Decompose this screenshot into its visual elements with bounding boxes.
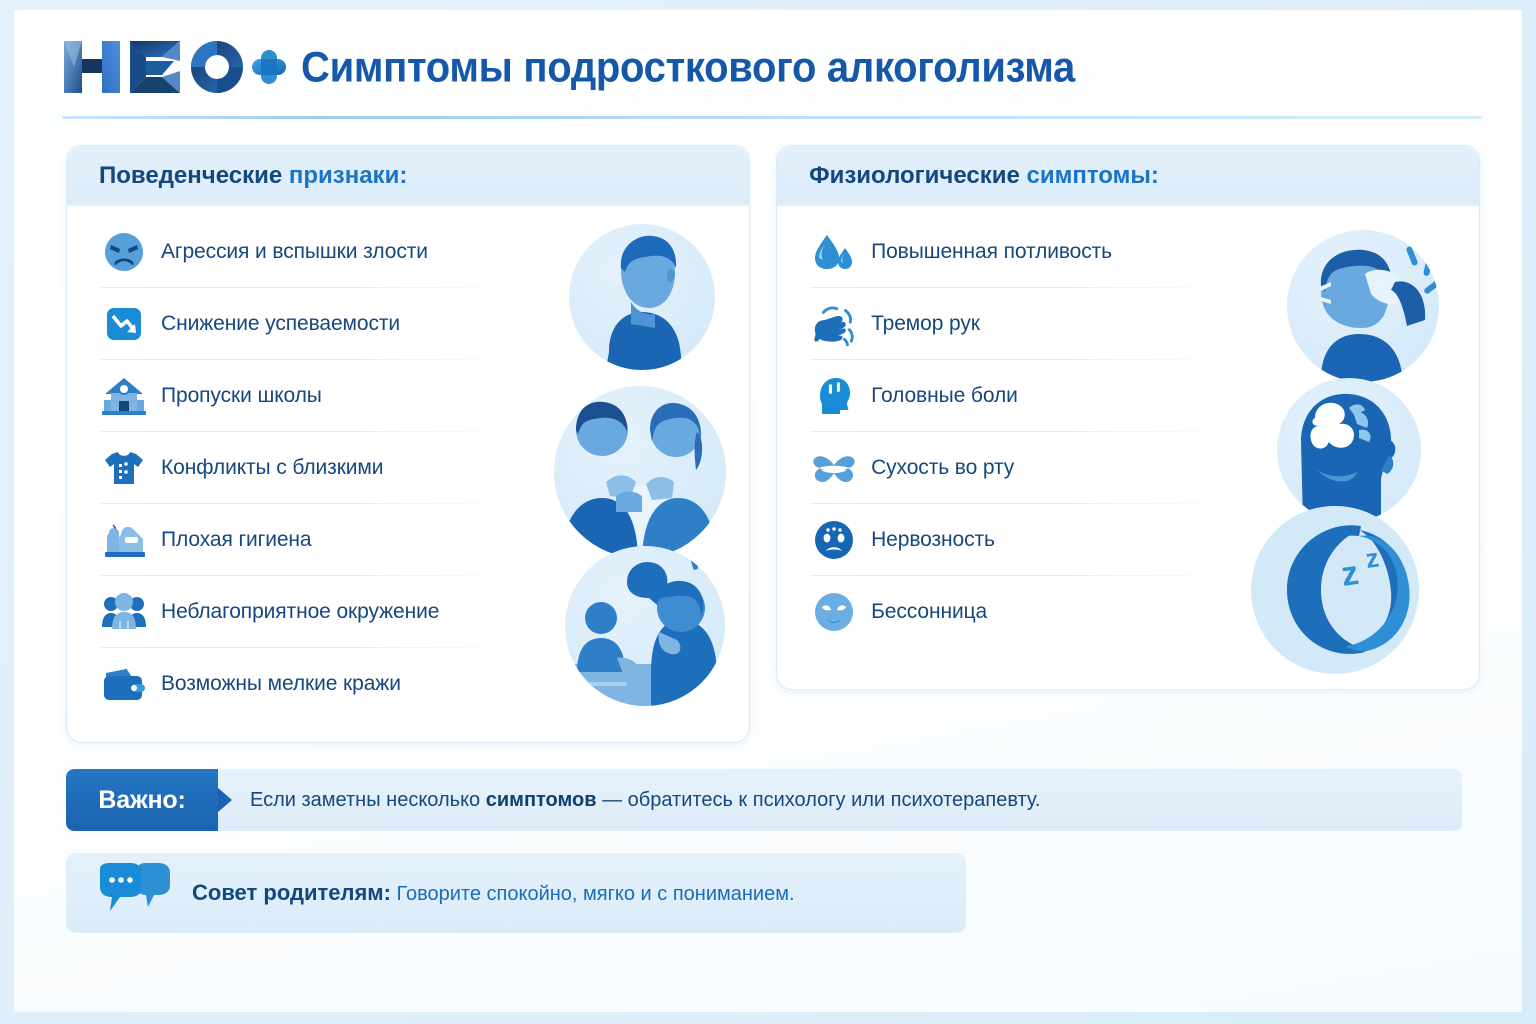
list-item[interactable]: Агрессия и вспышки злости [67, 216, 527, 288]
list-item-label: Головные боли [871, 384, 1018, 408]
list-item[interactable]: Тремор рук [777, 288, 1247, 360]
behavioral-heading-accent: признаки: [282, 162, 407, 189]
bottom-banners: Важно: Если заметны несколько симптомов … [14, 743, 1522, 933]
physiological-heading-accent: симптомы: [1020, 162, 1159, 189]
physiological-heading-main: Физиологические [809, 162, 1020, 189]
head-pain-icon [811, 373, 857, 419]
poster-inner: Симптомы подросткового алкоголизма Повед… [14, 10, 1522, 1012]
list-item-label: Повышенная потливость [871, 240, 1112, 264]
list-item-label: Неблагоприятное окружение [161, 600, 439, 624]
list-item-label: Плохая гигиена [161, 528, 312, 552]
people-group-icon [101, 589, 147, 635]
worried-face-icon [811, 517, 857, 563]
list-item[interactable]: Головные боли [777, 360, 1247, 432]
physiological-symptoms-card: Физиологические симптомы: [776, 145, 1480, 690]
important-text-after: — обратитесь к психологу или психотерапе… [597, 789, 1041, 811]
tshirt-icon [101, 445, 147, 491]
physiological-card-heading: Физиологические симптомы: [777, 146, 1479, 206]
physiological-items-list: Повышенная потливость [777, 206, 1479, 648]
soap-hygiene-icon [101, 517, 147, 563]
water-drops-icon [811, 229, 857, 275]
behavioral-card-heading: Поведенческие признаки: [67, 146, 749, 206]
cards-row: Поведенческие признаки: [14, 119, 1522, 743]
list-item[interactable]: Конфликты с близкими [67, 432, 527, 504]
behavioral-items-list: Агрессия и вспышки злости Снижение успев… [67, 206, 749, 720]
wallet-icon [101, 661, 147, 707]
advice-body: Говорите спокойно, мягко и с пониманием. [391, 883, 795, 905]
list-item-label: Сухость во рту [871, 456, 1014, 480]
important-tag: Важно: [66, 769, 218, 831]
behavioral-signs-card: Поведенческие признаки: [66, 145, 750, 743]
list-item-label: Нервозность [871, 528, 995, 552]
neo-plus-logo [62, 41, 287, 97]
list-item-label: Конфликты с близкими [161, 456, 383, 480]
list-item[interactable]: Возможны мелкие кражи [67, 648, 527, 720]
behavioral-heading-main: Поведенческие [99, 162, 282, 189]
advice-title: Совет родителям: [192, 880, 391, 905]
advice-text: Совет родителям: Говорите спокойно, мягк… [192, 880, 795, 906]
advice-banner: Совет родителям: Говорите спокойно, мягк… [66, 853, 966, 933]
angry-face-icon [101, 229, 147, 275]
list-item-label: Снижение успеваемости [161, 312, 400, 336]
list-item[interactable]: Снижение успеваемости [67, 288, 527, 360]
sleepless-face-icon [811, 589, 857, 635]
list-item[interactable]: Неблагоприятное окружение [67, 576, 527, 648]
list-item-label: Возможны мелкие кражи [161, 672, 401, 696]
list-item[interactable]: Пропуски школы [67, 360, 527, 432]
important-text: Если заметны несколько симптомов — обрат… [218, 789, 1040, 812]
list-item[interactable]: Бессонница [777, 576, 1247, 648]
list-item-label: Агрессия и вспышки злости [161, 240, 428, 264]
list-item-label: Пропуски школы [161, 384, 322, 408]
school-building-icon [101, 373, 147, 419]
list-item[interactable]: Сухость во рту [777, 432, 1247, 504]
lips-icon [811, 445, 857, 491]
list-item[interactable]: Повышенная потливость [777, 216, 1247, 288]
list-item-label: Тремор рук [871, 312, 980, 336]
infographic-poster: Симптомы подросткового алкоголизма Повед… [0, 0, 1536, 1024]
list-item[interactable]: Нервозность [777, 504, 1247, 576]
list-item[interactable]: Плохая гигиена [67, 504, 527, 576]
declining-chart-icon [101, 301, 147, 347]
list-item-label: Бессонница [871, 600, 987, 624]
important-banner: Важно: Если заметны несколько симптомов … [66, 769, 1462, 831]
poster-header: Симптомы подросткового алкоголизма [14, 10, 1522, 106]
important-text-bold: симптомов [486, 789, 597, 811]
shaking-hand-icon [811, 301, 857, 347]
chat-bubbles-icon [96, 863, 174, 924]
important-text-before: Если заметны несколько [250, 789, 486, 811]
page-title: Симптомы подросткового алкоголизма [301, 47, 1075, 92]
